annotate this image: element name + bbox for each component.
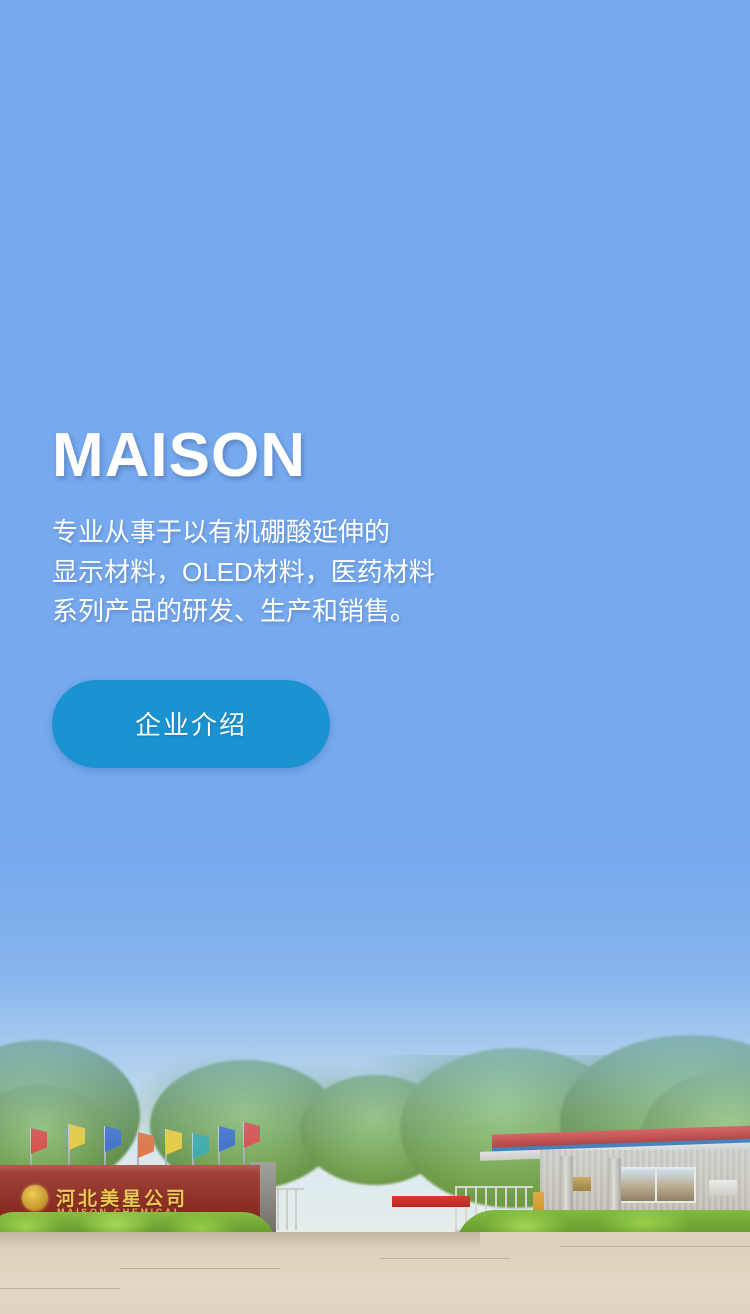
hero-tagline: 专业从事于以有机硼酸延伸的 显示材料，OLED材料，医药材料 系列产品的研发、生… bbox=[52, 513, 692, 632]
company-intro-button[interactable]: 企业介绍 bbox=[52, 680, 330, 768]
hero-banner: 河北美星公司 MAISON CHEMICAL MAISON 专业从事于以有机硼酸… bbox=[0, 0, 750, 1314]
brand-title: MAISON bbox=[52, 425, 692, 487]
hero-content: MAISON 专业从事于以有机硼酸延伸的 显示材料，OLED材料，医药材料 系列… bbox=[52, 425, 692, 768]
